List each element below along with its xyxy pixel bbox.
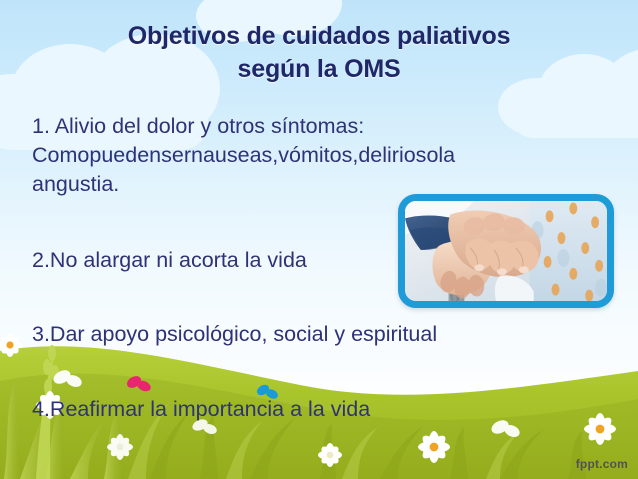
bullet-item-1-heading: 1. Alivio del dolor y otros síntomas: xyxy=(32,112,392,141)
bullet-item-4: 4.Reafirmar la importancia a la vida xyxy=(32,395,370,424)
word: nauseas, xyxy=(191,141,278,170)
word: pueden xyxy=(89,141,161,170)
bullet-item-3: 3.Dar apoyo psicológico, social y espiri… xyxy=(32,320,437,349)
word: ser xyxy=(161,141,191,170)
word: vómitos, xyxy=(278,141,358,170)
word: la xyxy=(438,141,455,170)
bullet-item-1-body-line-1: Como pueden ser nauseas, vómitos, deliri… xyxy=(32,141,392,170)
slide-body: 1. Alivio del dolor y otros síntomas: Co… xyxy=(32,112,610,199)
bullet-item-1-body-line-2: angustia. xyxy=(32,170,392,199)
bullet-item-1: 1. Alivio del dolor y otros síntomas: Co… xyxy=(32,112,392,199)
slide-title-line-1: Objetivos de cuidados paliativos xyxy=(0,20,638,53)
word: o xyxy=(426,141,438,170)
butterfly-pink-icon xyxy=(126,374,152,396)
presentation-slide: Objetivos de cuidados paliativos según l… xyxy=(0,0,638,479)
photo-elderly-hands-on-cane xyxy=(398,194,614,308)
word: delirios xyxy=(358,141,426,170)
slide-title: Objetivos de cuidados paliativos según l… xyxy=(0,20,638,86)
bullet-item-2: 2.No alargar ni acorta la vida xyxy=(32,246,307,275)
watermark-fppt: fppt.com xyxy=(576,457,628,471)
word: Como xyxy=(32,141,89,170)
slide-title-line-2: según la OMS xyxy=(0,53,638,86)
